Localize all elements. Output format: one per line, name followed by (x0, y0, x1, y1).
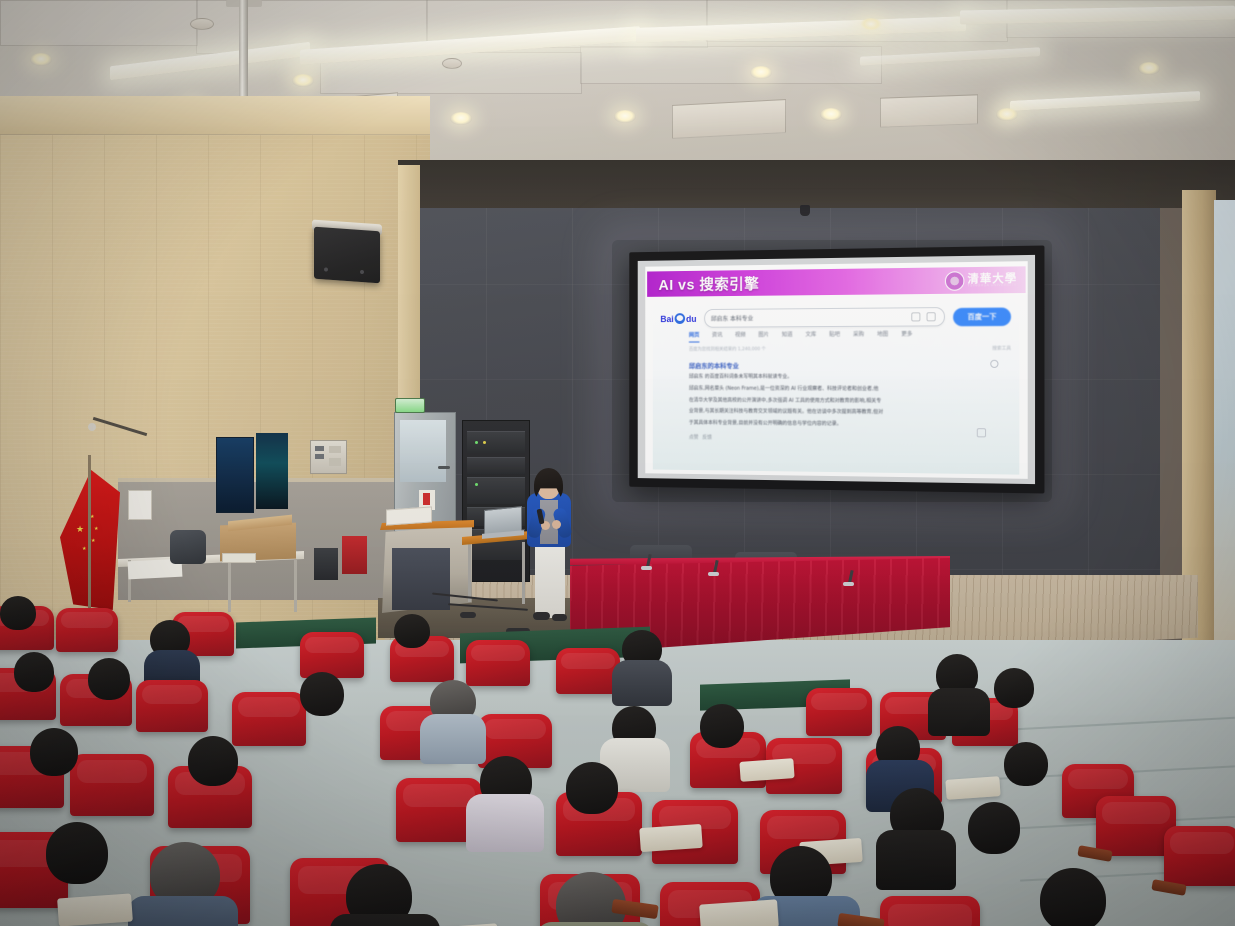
search-query-text: 邱启东 本科专业 (711, 314, 753, 323)
projection-screen: AI vs 搜索引擎 清華大學 TSINGHUA UNIVERSITY Bai (629, 245, 1044, 493)
wall-bracket-knob (88, 423, 96, 431)
recycling-bin (342, 536, 367, 574)
like-action[interactable]: 点赞 (689, 433, 699, 440)
air-vent (672, 99, 786, 139)
audience-area (0, 596, 1235, 926)
audience-head (968, 802, 1020, 854)
tab-video[interactable]: 视频 (735, 330, 746, 338)
status-led (483, 441, 486, 444)
waste-bin (314, 548, 338, 580)
tab-web[interactable]: 网页 (689, 331, 700, 339)
audience-torso (928, 688, 990, 736)
audience-torso (466, 794, 544, 852)
microphone-base (843, 582, 854, 586)
baidu-logo-du: du (686, 314, 697, 324)
result-line: 邱启东 的百度百科词条未写明其本科就读专业。 (689, 374, 1001, 382)
audience-torso (876, 830, 956, 890)
seat (232, 692, 306, 746)
armrest (837, 913, 885, 926)
seat (136, 680, 208, 732)
audience-head (394, 614, 430, 648)
tab-map[interactable]: 地图 (877, 330, 888, 338)
screen-surface: AI vs 搜索引擎 清華大學 TSINGHUA UNIVERSITY Bai (638, 255, 1035, 484)
ceiling-tile (0, 0, 198, 46)
search-tools-button[interactable]: 搜索工具 (992, 345, 1011, 351)
wall-speaker-icon (314, 227, 380, 284)
table-leg (522, 542, 525, 604)
tab-news[interactable]: 资讯 (712, 331, 723, 339)
downlight (860, 18, 882, 31)
lecture-hall-photo: AI vs 搜索引擎 清華大學 TSINGHUA UNIVERSITY Bai (0, 0, 1235, 926)
ceiling-camera-icon (800, 205, 810, 216)
status-led (475, 483, 478, 486)
presenter-hand (552, 520, 561, 529)
upper-wall-beam (398, 160, 1235, 208)
search-button[interactable]: 百度一下 (953, 307, 1011, 326)
audience-torso (330, 914, 440, 926)
university-name-en: TSINGHUA UNIVERSITY (967, 284, 1017, 288)
audience-head (566, 762, 618, 814)
seat (466, 640, 530, 686)
audience-head (14, 652, 54, 692)
result-line: 在清华大学及其他高校的公开演讲中,多次强调 AI 工具的使用方式和对教育的影响,… (689, 397, 1001, 406)
slide-header: AI vs 搜索引擎 清華大學 TSINGHUA UNIVERSITY (647, 266, 1025, 297)
baidu-screenshot: Bai du 邱启东 本科专业 百度一下 (653, 298, 1020, 474)
baidu-tab-bar: 网页 资讯 视频 图片 知道 文库 贴吧 采购 地图 更多 (689, 329, 1011, 339)
camera-icon[interactable] (911, 312, 920, 321)
result-line: 业背景,与其长期关注科技与教育交叉领域的议题有关。他在访谈中多次提到高等教育,但… (689, 408, 1001, 418)
result-actions: 点赞 反馈 (689, 433, 1001, 443)
downlight (750, 66, 772, 79)
audience-head (188, 736, 238, 786)
audience-head (0, 596, 36, 630)
feedback-action[interactable]: 反馈 (702, 434, 712, 441)
audience-torso (612, 660, 672, 706)
audience-torso (420, 714, 486, 764)
tab-tieba[interactable]: 贴吧 (829, 330, 840, 338)
wall-control-panel[interactable] (310, 440, 347, 474)
downlight (614, 110, 636, 123)
door-handle[interactable] (438, 466, 450, 469)
downlight (820, 108, 842, 121)
university-seal-icon (945, 271, 964, 291)
microphone-icon[interactable] (927, 312, 936, 321)
writing-tablet (739, 758, 794, 782)
downlight (1138, 62, 1160, 75)
writing-tablet (639, 824, 703, 852)
search-input[interactable]: 邱启东 本科专业 (704, 307, 945, 328)
audience-head (88, 658, 130, 700)
tab-more[interactable]: 更多 (901, 330, 912, 338)
microphone-base (641, 566, 652, 570)
tab-zhidao[interactable]: 知道 (782, 330, 793, 338)
av-equipment-rack (462, 420, 530, 582)
audience-head (300, 672, 344, 716)
air-vent (880, 94, 978, 127)
lectern-name-card (386, 506, 432, 525)
smoke-detector (442, 58, 462, 69)
audience-head (994, 668, 1034, 708)
seat (880, 896, 980, 926)
result-line: 于其具体本科专业背景,目前并没有公开明确的信息与学位内容的记录。 (689, 420, 1001, 430)
search-input-icons (911, 312, 935, 321)
window-light-gap (1214, 200, 1235, 660)
result-count: 百度为您找到相关结果约 1,240,000 个 (689, 346, 766, 352)
smoke-detector (190, 18, 214, 30)
exit-sign-icon (395, 398, 425, 413)
status-led (475, 441, 478, 444)
tab-images[interactable]: 图片 (758, 330, 769, 338)
result-line: 邱启东,网名菜头 (Neon Frame),是一位资深的 AI 行业观察者、科技… (689, 385, 1001, 394)
result-meta-row: 百度为您找到相关结果约 1,240,000 个 搜索工具 (689, 345, 1011, 352)
baidu-search-row: Bai du 邱启东 本科专业 百度一下 (660, 306, 1011, 327)
seat (806, 688, 872, 736)
small-label-box (222, 553, 256, 563)
audience-head (30, 728, 78, 776)
microphone-base (708, 572, 719, 576)
seat (300, 632, 364, 678)
downlight (30, 53, 52, 66)
notice-sheet (128, 490, 152, 520)
audience-head (1040, 868, 1106, 926)
baidu-logo: Bai du (660, 313, 696, 324)
writing-tablet (57, 893, 133, 926)
ceiling-tile (580, 46, 882, 84)
audience-torso (128, 896, 238, 926)
writing-tablet (945, 776, 1000, 800)
baidu-paw-icon (675, 313, 685, 324)
tsinghua-logo: 清華大學 TSINGHUA UNIVERSITY (945, 271, 1017, 291)
slide-title: AI vs 搜索引擎 (658, 272, 759, 294)
audience-head (1004, 742, 1048, 786)
door-window (400, 420, 446, 482)
table-leg (468, 540, 471, 602)
backpack (170, 530, 206, 564)
downlight (450, 112, 472, 125)
seat (56, 608, 118, 652)
tab-wenku[interactable]: 文库 (805, 330, 816, 338)
downlight (996, 108, 1018, 121)
audience-head (46, 822, 108, 884)
seat (1164, 826, 1235, 886)
seat (556, 648, 620, 694)
wall-cornice (0, 96, 430, 135)
result-title[interactable]: 邱启东的本科专业 (689, 360, 1001, 370)
bookmark-icon[interactable] (977, 428, 986, 437)
slide: AI vs 搜索引擎 清華大學 TSINGHUA UNIVERSITY Bai (645, 261, 1027, 479)
audience-head (700, 704, 744, 748)
tab-caigou[interactable]: 采购 (853, 330, 864, 338)
share-icon[interactable] (990, 360, 998, 368)
search-result: 邱启东的本科专业 邱启东 的百度百科词条未写明其本科就读专业。 邱启东,网名菜头… (689, 360, 1001, 444)
poster-right (256, 433, 288, 509)
poster-left (216, 437, 254, 513)
baidu-logo-bai: Bai (660, 314, 673, 324)
downlight (292, 74, 314, 87)
audience-torso (536, 922, 654, 926)
writing-tablet (699, 899, 779, 926)
seat (70, 754, 154, 816)
